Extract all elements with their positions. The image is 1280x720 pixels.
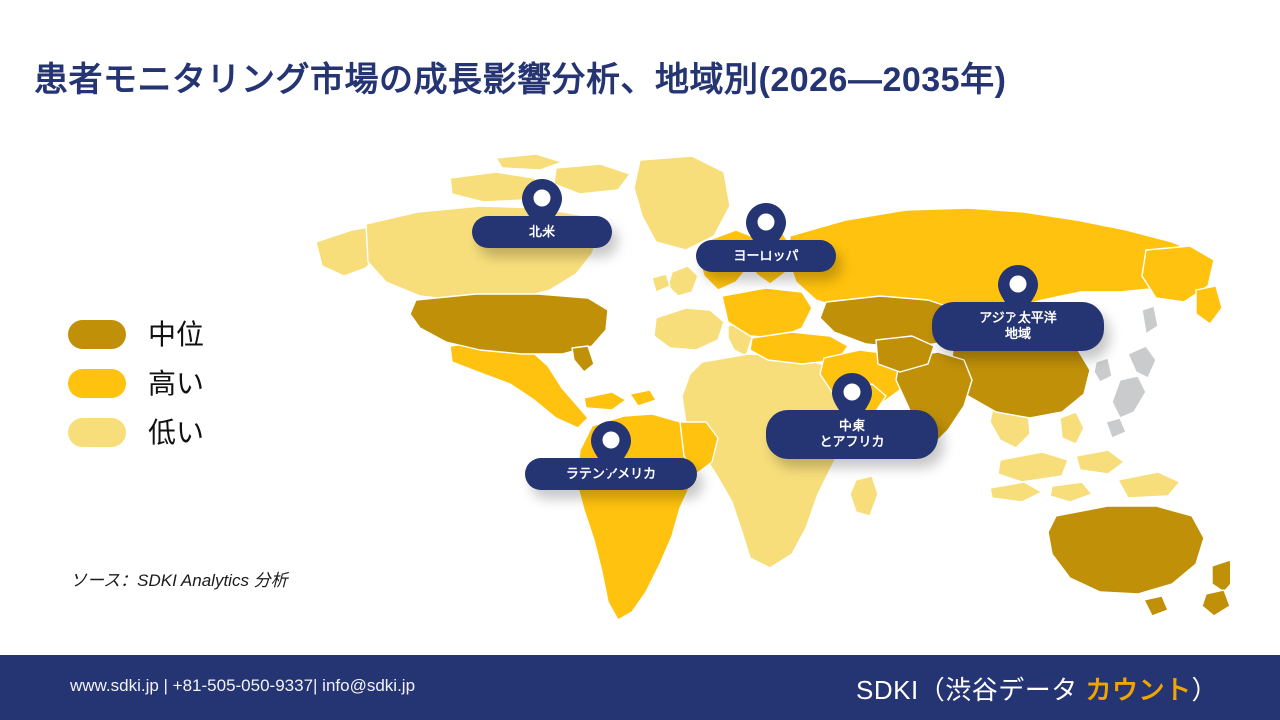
legend-label-low: 低い <box>148 419 204 447</box>
location-pin-icon <box>831 372 873 426</box>
legend-swatch-low <box>68 418 126 447</box>
location-pin-icon <box>590 420 632 474</box>
map-pin-middle-east-africa[interactable]: 中東 とアフリカ <box>766 372 938 459</box>
legend-swatch-medium <box>68 320 126 349</box>
footer-contact-info: www.sdki.jp | +81-505-050-9337| info@sdk… <box>70 676 415 696</box>
legend-item-low: 低い <box>68 408 308 457</box>
location-pin-icon <box>521 178 563 232</box>
map-pin-north-america[interactable]: 北米 <box>472 178 612 248</box>
footer-logo-main: SDKI（渋谷データ <box>856 675 1085 705</box>
legend-label-medium: 中位 <box>148 321 204 349</box>
source-note: ソース：SDKI Analytics 分析 <box>70 566 288 591</box>
map-pin-asia-pacific[interactable]: アジア太平洋 地域 <box>932 264 1104 351</box>
legend-item-high: 高い <box>68 359 308 408</box>
map-pin-europe[interactable]: ヨーロッパ <box>696 202 836 272</box>
legend-label-high: 高い <box>148 370 204 398</box>
footer-brand-logo: SDKI（渋谷データ カウント） <box>856 670 1218 707</box>
map-pin-latin-america[interactable]: ラテンアメリカ <box>525 420 697 490</box>
legend-swatch-high <box>68 369 126 398</box>
world-map-container: 北米 ヨーロッパ アジア太平洋 地域 中東 とアフリカ <box>300 150 1230 630</box>
legend-item-medium: 中位 <box>68 310 308 359</box>
page-title: 患者モニタリング市場の成長影響分析、地域別(2026—2035年) <box>34 52 1214 101</box>
location-pin-icon <box>745 202 787 256</box>
footer-logo-accent: カウント <box>1085 675 1191 705</box>
location-pin-icon <box>997 264 1039 318</box>
footer-logo-tail: ） <box>1191 675 1218 705</box>
infographic-slide: 患者モニタリング市場の成長影響分析、地域別(2026—2035年) 中位 高い … <box>0 0 1280 720</box>
map-legend: 中位 高い 低い <box>68 310 308 457</box>
